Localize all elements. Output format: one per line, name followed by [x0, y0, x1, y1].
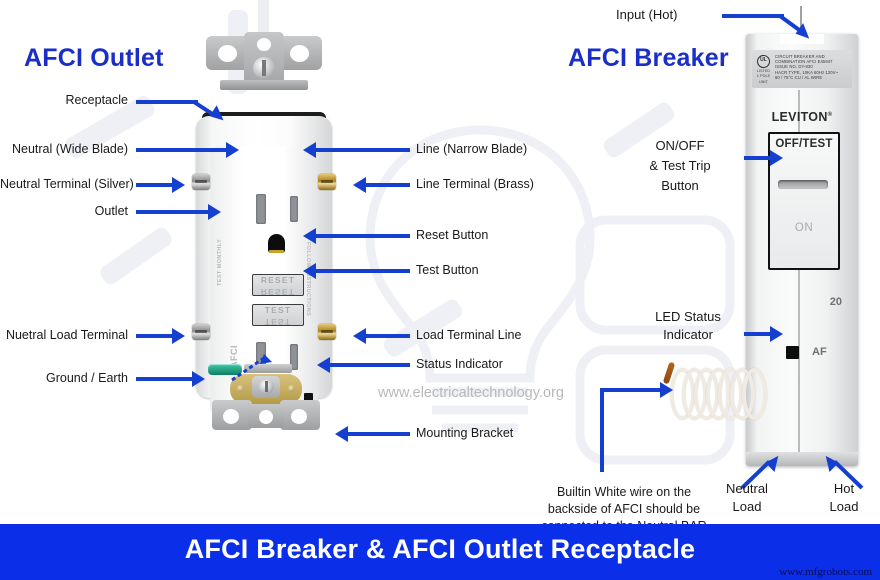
diagram-canvas: AFCI Outlet AFCI Breaker TEST MONTHLY FO… — [0, 0, 880, 580]
leader-neutral-terminal — [136, 183, 172, 187]
leader-status-indicator — [330, 363, 410, 367]
neutral-load-terminal-screw[interactable] — [192, 324, 210, 340]
arrowhead-white-wire — [660, 382, 673, 398]
brand-text: LEVITON — [772, 110, 828, 124]
neutral-wide-blade-slot — [256, 194, 266, 224]
reset-button-label-mirror: RESET — [253, 286, 303, 297]
yoke-screw-icon — [253, 57, 275, 79]
onoff-line-3: Button — [620, 176, 740, 196]
arrowhead-outlet — [208, 204, 221, 220]
leader-neutral-load-terminal — [136, 334, 172, 338]
site-watermark: www.electricaltechnology.org — [378, 385, 564, 401]
yoke-arm-right — [278, 36, 322, 70]
ul-listed-mark: UL LISTED 1 POLE UNIT — [756, 55, 771, 84]
page-title-breaker: AFCI Breaker — [568, 44, 729, 73]
banner-url: www.mfgrobots.com — [779, 566, 872, 578]
label-mounting-bracket: Mounting Bracket — [416, 426, 513, 441]
neutral-load-line-2: Load — [700, 498, 794, 516]
arrowhead-status-indicator — [317, 357, 330, 373]
ul-pole-text: 1 POLE — [756, 74, 771, 78]
label-load-terminal-line: Load Terminal Line — [416, 328, 521, 343]
leader-onoff-test-trip — [744, 156, 772, 160]
leader-load-terminal-line — [366, 334, 410, 338]
yoke-bar — [220, 80, 308, 90]
leader-line-terminal-brass — [366, 183, 410, 187]
leader-ground-earth — [136, 377, 192, 381]
label-neutral-terminal: Neutral Terminal (Silver) — [0, 177, 128, 192]
off-test-label: OFF/TEST — [770, 138, 838, 150]
onoff-line-1: ON/OFF — [620, 136, 740, 156]
leader-white-wire-vertical — [600, 388, 604, 472]
spec-line-5: 60 / 75°C CU / AL WIRE — [775, 75, 849, 80]
line-terminal-screw[interactable] — [318, 174, 336, 190]
arrowhead-reset-button — [303, 228, 316, 244]
label-onoff-test-trip: ON/OFF & Test Trip Button — [620, 136, 740, 196]
label-receptacle: Receptacle — [0, 93, 128, 108]
load-terminal-line-screw[interactable] — [318, 324, 336, 340]
test-button-label: TEST — [265, 305, 292, 315]
label-status-indicator: Status Indicator — [416, 357, 503, 372]
on-label: ON — [770, 222, 838, 234]
onoff-line-2: & Test Trip — [620, 156, 740, 176]
label-ground-earth: Ground / Earth — [0, 371, 128, 386]
leader-outlet — [136, 210, 208, 214]
background-blade-watermark-2 — [97, 225, 174, 287]
arrowhead-led-status — [770, 326, 783, 342]
hot-load-line-1: Hot — [808, 480, 880, 498]
ul-unit-text: UNIT — [756, 80, 771, 84]
reset-button[interactable]: RESET RESET — [252, 274, 304, 296]
breaker-spec-label: UL LISTED 1 POLE UNIT CIRCUIT BREAKER AN… — [752, 50, 852, 88]
led-status-line-2: Indicator — [636, 326, 740, 344]
arrowhead-neutral-load-terminal — [172, 328, 185, 344]
arrowhead-load-terminal-line — [353, 328, 366, 344]
label-line-narrow-blade: Line (Narrow Blade) — [416, 142, 527, 157]
yoke-center — [244, 32, 284, 86]
hot-load-line-2: Load — [808, 498, 880, 516]
leader-line-narrow-blade — [316, 148, 410, 152]
bottom-banner: AFCI Breaker & AFCI Outlet Receptacle ww… — [0, 524, 880, 580]
leader-led-status — [744, 332, 772, 336]
leviton-brand-logo: LEVITON® — [746, 110, 858, 124]
label-test-button: Test Button — [416, 263, 479, 278]
label-neutral-load: Neutral Load — [700, 480, 794, 516]
label-neutral-load-terminal: Nuetral Load Terminal — [0, 328, 128, 343]
neutral-terminal-screw[interactable] — [192, 174, 210, 190]
neutral-load-line-1: Neutral — [700, 480, 794, 498]
amp-rating-marking: 20 — [746, 296, 842, 308]
builtin-white-wire — [660, 362, 764, 420]
label-outlet: Outlet — [0, 204, 128, 219]
mounting-bracket — [212, 400, 320, 430]
ul-circle-icon: UL — [757, 55, 770, 68]
breaker-spec-text: CIRCUIT BREAKER AND COMBINATION AFCI E45… — [775, 54, 849, 80]
ground-dotted-connector — [230, 352, 274, 384]
ul-listed-text: LISTED — [756, 69, 771, 73]
af-marking: AF — [812, 346, 827, 358]
arrowhead-onoff-test-trip — [770, 150, 783, 166]
label-neutral-wide-blade: Neutral (Wide Blade) — [0, 142, 128, 157]
outlet-top-yoke — [206, 28, 322, 94]
yoke-stem — [258, 0, 269, 34]
label-hot-load: Hot Load — [808, 480, 880, 516]
test-button[interactable]: TEST TEST — [252, 304, 304, 326]
toggle-handle[interactable] — [778, 180, 828, 189]
leader-mounting-bracket — [348, 432, 410, 436]
banner-title: AFCI Breaker & AFCI Outlet Receptacle — [0, 534, 880, 565]
led-status-line-1: LED Status — [636, 308, 740, 326]
leader-input-hot — [722, 14, 784, 18]
label-input-hot: Input (Hot) — [616, 7, 677, 22]
arrowhead-neutral-terminal — [172, 177, 185, 193]
line-narrow-blade-slot — [290, 196, 298, 222]
leader-neutral-wide-blade — [136, 148, 226, 152]
leader-test-button — [316, 269, 410, 273]
breaker-seam-bottom — [798, 270, 800, 466]
arrowhead-line-narrow-blade — [303, 142, 316, 158]
label-led-status-indicator: LED Status Indicator — [636, 308, 740, 344]
arrowhead-line-terminal-brass — [353, 177, 366, 193]
arrowhead-test-button — [303, 263, 316, 279]
label-line-terminal-brass: Line Terminal (Brass) — [416, 177, 534, 192]
arrowhead-ground-earth — [192, 371, 205, 387]
reset-button-label: RESET — [261, 275, 295, 285]
leader-reset-button — [316, 234, 410, 238]
outlet-side-text-left: TEST MONTHLY — [217, 239, 223, 286]
label-reset-button: Reset Button — [416, 228, 488, 243]
page-title-outlet: AFCI Outlet — [24, 44, 164, 73]
led-status-indicator — [786, 346, 799, 359]
arrowhead-mounting-bracket — [335, 426, 348, 442]
test-button-label-mirror: TEST — [253, 316, 303, 327]
leader-white-wire-horizontal — [600, 388, 662, 392]
arrowhead-neutral-wide-blade — [226, 142, 239, 158]
outlet-side-text-right: FOLLOW INSTRUCTIONS — [305, 242, 311, 316]
leader-receptacle — [136, 100, 198, 104]
